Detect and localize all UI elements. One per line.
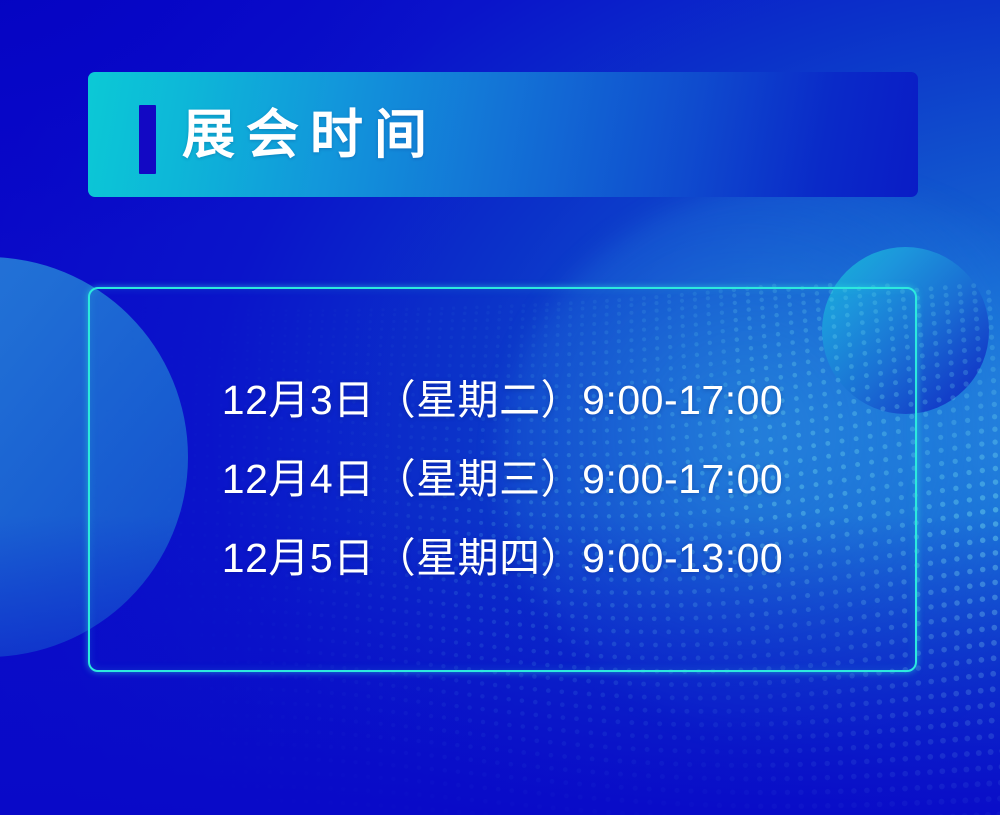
header-accent-bar	[139, 105, 156, 174]
exhibition-time-poster: 展会时间 12月3日（星期二）9:00-17:00 12月4日（星期三）9:00…	[0, 0, 1000, 815]
header-banner: 展会时间	[88, 72, 918, 197]
schedule-line: 12月3日（星期二）9:00-17:00	[222, 380, 783, 421]
schedule-line: 12月5日（星期四）9:00-13:00	[222, 538, 783, 579]
schedule-line: 12月4日（星期三）9:00-17:00	[222, 459, 783, 500]
schedule-list: 12月3日（星期二）9:00-17:00 12月4日（星期三）9:00-17:0…	[88, 287, 917, 672]
page-title: 展会时间	[182, 108, 438, 161]
